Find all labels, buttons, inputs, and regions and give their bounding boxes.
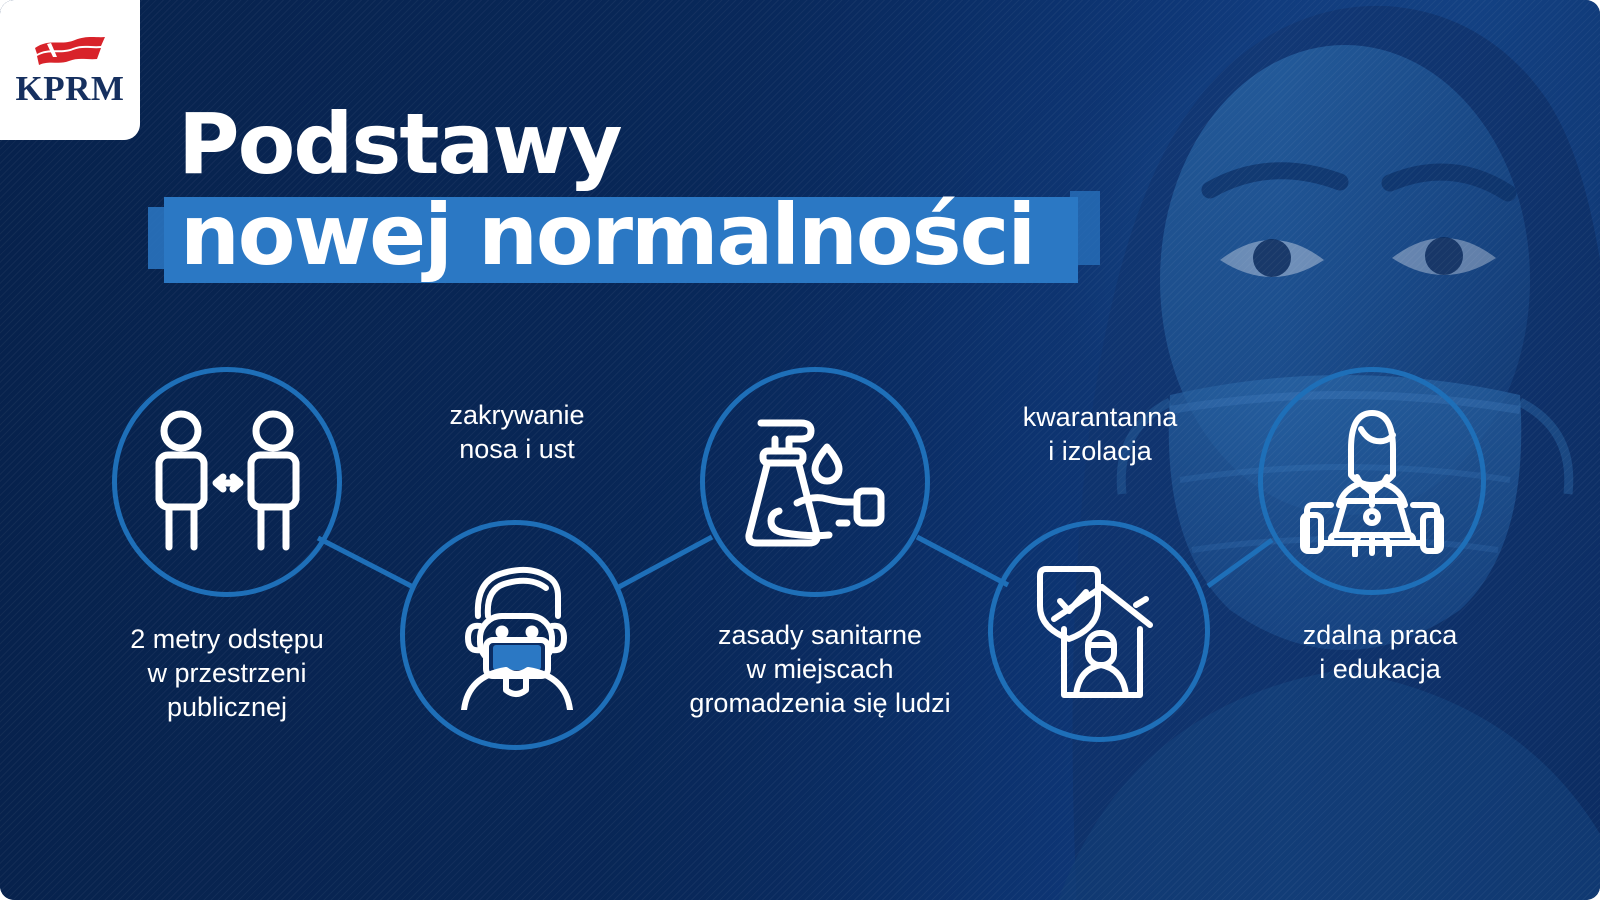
title-line-2: nowej normalności [178, 191, 1040, 285]
person-face-mask-icon [440, 560, 590, 710]
step-distance-label: 2 metry odstępu w przestrzeni publicznej [62, 622, 392, 724]
woman-laptop-sofa-icon [1293, 405, 1451, 557]
step-mask-label: zakrywanie nosa i ust [382, 398, 652, 466]
title-line-1: Podstawy [178, 104, 1040, 185]
step-mask-circle[interactable] [400, 520, 630, 750]
two-people-distance-icon [147, 407, 307, 557]
kprm-logo: KPRM [0, 0, 140, 140]
polish-flag-wave-icon [31, 35, 109, 69]
page-title: Podstawy nowej normalności [178, 104, 1040, 284]
house-shield-person-icon [1024, 559, 1174, 704]
infographic-poster: KPRM Podstawy nowej normalności [0, 0, 1600, 900]
hand-sanitizer-icon [735, 407, 895, 557]
step-distance-circle[interactable] [112, 367, 342, 597]
step-remote-label: zdalna praca i edukacja [1245, 618, 1515, 686]
step-sanitary-circle[interactable] [700, 367, 930, 597]
step-quarantine-circle[interactable] [988, 520, 1210, 742]
kprm-wordmark: KPRM [16, 71, 125, 106]
step-sanitary-label: zasady sanitarne w miejscach gromadzenia… [620, 618, 1020, 720]
title-highlight-row: nowej normalności [178, 191, 1040, 285]
step-remote-circle[interactable] [1258, 367, 1486, 595]
step-quarantine-label: kwarantanna i izolacja [960, 400, 1240, 468]
